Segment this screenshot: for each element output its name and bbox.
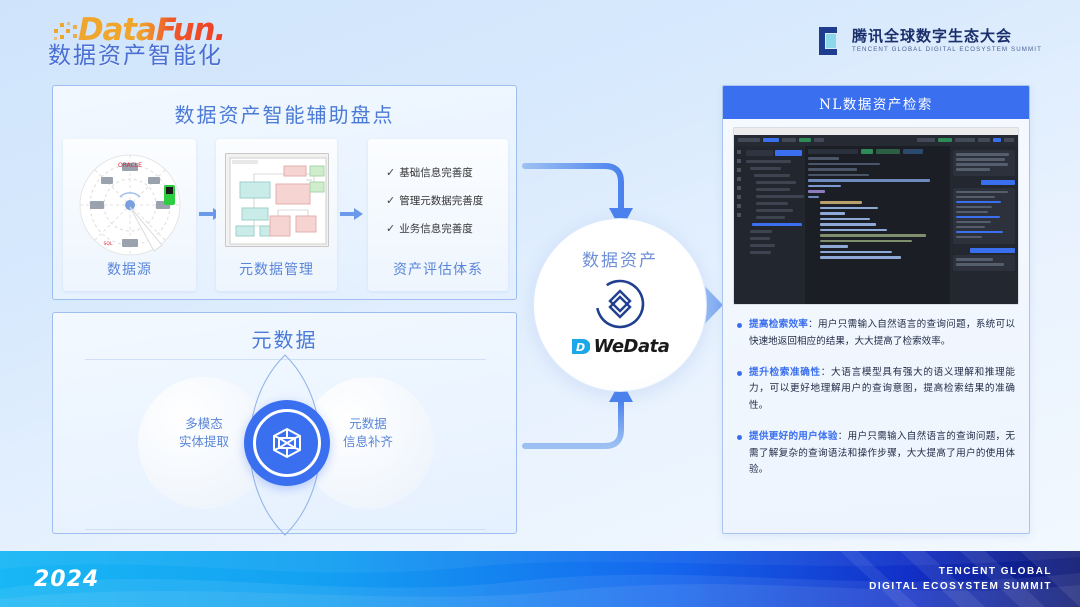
- svg-text:D: D: [576, 341, 585, 354]
- flow-card-label-metadata-management: 元数据管理: [216, 259, 337, 279]
- asset-evaluation-checklist: ✓ 基础信息完善度 ✓ 管理元数据完善度 ✓ 业务信息完善度: [386, 165, 483, 249]
- panel-nl-retrieval: NL数据资产检索: [722, 85, 1030, 534]
- footer-banner: 2024 TENCENT GLOBAL DIGITAL ECOSYSTEM SU…: [0, 551, 1080, 607]
- screenshot-ide: [734, 135, 1018, 304]
- wedata-brand: D WeData: [571, 336, 670, 357]
- benefit-lead: 提供更好的用户体验: [749, 431, 838, 442]
- screenshot-topbar: [734, 135, 1018, 146]
- er-diagram-thumbnail: [225, 153, 329, 247]
- benefit-item: 提供更好的用户体验：用户只需输入自然语言的查询问题，无需了解复杂的查询语法和操作…: [737, 429, 1015, 479]
- venn-label-right: 元数据 信息补齐: [302, 415, 434, 451]
- benefit-lead: 提高检索效率: [749, 319, 808, 330]
- footer-year: 2024: [34, 567, 99, 592]
- check-icon: ✓: [386, 166, 395, 179]
- bullet-dot-icon: [737, 371, 742, 376]
- benefit-text: 提供更好的用户体验：用户只需输入自然语言的查询问题，无需了解复杂的查询语法和操作…: [749, 429, 1015, 479]
- benefits-list: 提高检索效率：用户只需输入自然语言的查询问题，系统可以快速地返回相应的结果，大大…: [723, 305, 1029, 479]
- sponsor-name-cn: 腾讯全球数字生态大会: [852, 29, 1042, 44]
- sponsor-name-en: TENCENT GLOBAL DIGITAL ECOSYSTEM SUMMIT: [852, 47, 1042, 53]
- check-icon: ✓: [386, 194, 395, 207]
- checklist-item: ✓ 基础信息完善度: [386, 165, 483, 180]
- wedata-brand-text: WeData: [594, 336, 670, 357]
- screenshot-browser-chrome: [734, 128, 1018, 135]
- screenshot-code-editor: [805, 146, 950, 304]
- flow-arrow-2-icon: [340, 207, 364, 221]
- flow-card-metadata-management: 元数据管理: [216, 139, 337, 291]
- checklist-item-label: 管理元数据完善度: [399, 193, 483, 208]
- venn-label-left-line2: 实体提取: [138, 433, 270, 451]
- screenshot-activity-bar: [734, 146, 743, 304]
- svg-text:SQL: SQL: [103, 241, 112, 247]
- flow-card-asset-evaluation: ✓ 基础信息完善度 ✓ 管理元数据完善度 ✓ 业务信息完善度 资产评估体系: [368, 139, 508, 291]
- flow-card-label-asset-evaluation: 资产评估体系: [368, 259, 508, 279]
- checklist-item-label: 业务信息完善度: [399, 221, 473, 236]
- wedata-mark-icon: [594, 278, 646, 330]
- benefit-item: 提高检索效率：用户只需输入自然语言的查询问题，系统可以快速地返回相应的结果，大大…: [737, 317, 1015, 351]
- tencent-mark-icon: [817, 26, 843, 56]
- benefit-text: 提升检索准确性：大语言模型具有强大的语义理解和推理能力，可以更好地理解用户的查询…: [749, 365, 1015, 415]
- checklist-item-label: 基础信息完善度: [399, 165, 473, 180]
- venn-label-left: 多模态 实体提取: [138, 415, 270, 451]
- venn-label-left-line1: 多模态: [138, 415, 270, 433]
- bullet-dot-icon: [737, 323, 742, 328]
- footer-line-2: DIGITAL ECOSYSTEM SUMMIT: [869, 580, 1052, 595]
- check-icon: ✓: [386, 222, 395, 235]
- screenshot-main: [734, 146, 1018, 304]
- asset-inventory-flow: ORACLE SQL 数据源: [53, 139, 516, 291]
- panel-metadata-title: 元数据: [53, 313, 516, 353]
- svg-text:ORACLE: ORACLE: [118, 162, 142, 169]
- footer-line-1: TENCENT GLOBAL: [869, 565, 1052, 580]
- benefit-item: 提升检索准确性：大语言模型具有强大的语义理解和推理能力，可以更好地理解用户的查询…: [737, 365, 1015, 415]
- panel-metadata: 元数据 多模态 实体提取: [52, 312, 517, 534]
- flow-card-label-data-source: 数据源: [63, 259, 196, 279]
- footer-summit-name: TENCENT GLOBAL DIGITAL ECOSYSTEM SUMMIT: [869, 565, 1052, 594]
- cube-network-icon: [269, 425, 305, 461]
- bullet-dot-icon: [737, 435, 742, 440]
- data-source-radial-icon: ORACLE SQL: [74, 149, 186, 261]
- flow-card-data-source: ORACLE SQL 数据源: [63, 139, 196, 291]
- benefit-lead: 提升检索准确性: [749, 367, 821, 378]
- panel-nl-retrieval-title: NL数据资产检索: [723, 86, 1029, 119]
- hub-title: 数据资产: [582, 246, 658, 271]
- tencent-summit-logo: 腾讯全球数字生态大会 TENCENT GLOBAL DIGITAL ECOSYS…: [817, 26, 1042, 56]
- panel-asset-inventory: 数据资产智能辅助盘点: [52, 85, 517, 300]
- checklist-item: ✓ 管理元数据完善度: [386, 193, 483, 208]
- hub-data-asset: 数据资产 D WeData: [533, 218, 707, 392]
- venn-label-right-line2: 信息补齐: [302, 433, 434, 451]
- metadata-venn: 多模态 实体提取 元数据 信息补齐: [53, 357, 516, 532]
- screenshot-file-tree: [743, 146, 805, 304]
- product-screenshot: [733, 127, 1019, 305]
- venn-label-right-line1: 元数据: [302, 415, 434, 433]
- wedata-badge-icon: D: [571, 337, 590, 356]
- checklist-item: ✓ 业务信息完善度: [386, 221, 483, 236]
- screenshot-assistant-chat: [950, 146, 1018, 304]
- benefit-text: 提高检索效率：用户只需输入自然语言的查询问题，系统可以快速地返回相应的结果，大大…: [749, 317, 1015, 351]
- panel-asset-inventory-title: 数据资产智能辅助盘点: [53, 86, 516, 128]
- page-title: 数据资产智能化: [48, 36, 223, 70]
